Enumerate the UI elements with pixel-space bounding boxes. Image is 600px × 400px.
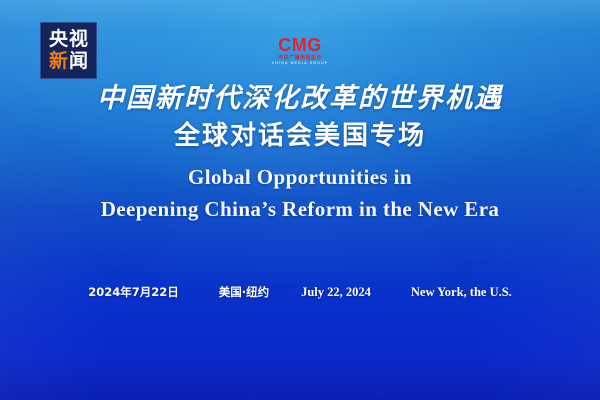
cctv-logo-char-wen: 闻 xyxy=(69,51,88,72)
cctv-logo-char-shi: 视 xyxy=(69,29,88,50)
cctv-logo-char-xin: 新 xyxy=(49,51,68,72)
presentation-slide: 央 视 新 闻 CMG 中央广播电视总台 CHINA MEDIA GROUP 中… xyxy=(0,0,600,400)
event-location-chinese: 美国·纽约 xyxy=(219,284,269,300)
event-date-chinese: 2024年7月22日 xyxy=(88,284,179,300)
background-bottom-shade xyxy=(0,354,600,400)
title-chinese-line-2: 全球对话会美国专场 xyxy=(0,120,600,152)
cctv-news-logo: 央 视 新 闻 xyxy=(40,22,97,79)
event-meta-row: 2024年7月22日 美国·纽约 July 22, 2024 New York,… xyxy=(0,284,600,300)
cmg-english-name: CHINA MEDIA GROUP xyxy=(272,62,329,66)
event-date-english: July 22, 2024 xyxy=(301,285,371,300)
title-chinese-line-1: 中国新时代深化改革的世界机遇 xyxy=(0,82,600,116)
cctv-logo-char-yang: 央 xyxy=(49,29,68,50)
title-english-line-1: Global Opportunities in xyxy=(0,162,600,192)
cmg-wordmark: CMG xyxy=(272,36,329,54)
event-location-english: New York, the U.S. xyxy=(411,285,512,300)
cctv-news-logo-line-2: 新 闻 xyxy=(49,51,88,72)
cmg-logo: CMG 中央广播电视总台 CHINA MEDIA GROUP xyxy=(272,36,329,66)
title-block: 中国新时代深化改革的世界机遇 全球对话会美国专场 Global Opportun… xyxy=(0,82,600,224)
title-english-line-2: Deepening China’s Reform in the New Era xyxy=(0,194,600,224)
cctv-news-logo-line-1: 央 视 xyxy=(49,29,88,50)
